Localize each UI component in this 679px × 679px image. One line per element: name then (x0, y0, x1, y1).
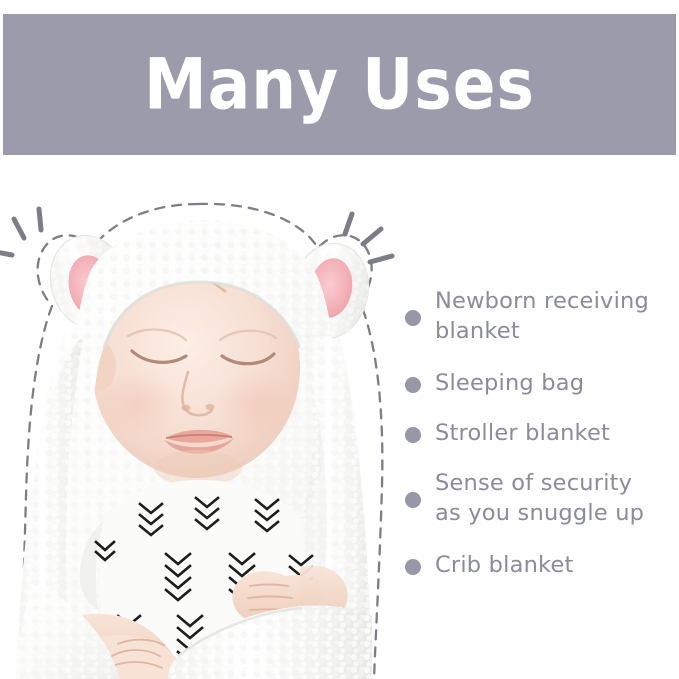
product-feature-card: Many Uses (0, 0, 679, 679)
list-item: Stroller blanket (405, 418, 679, 448)
bullet-icon (405, 427, 421, 443)
page-title: Many Uses (144, 49, 535, 120)
bullet-icon (405, 492, 421, 508)
list-item-label: Sleeping bag (435, 368, 584, 398)
bullet-icon (405, 559, 421, 575)
sparkle-left (0, 209, 41, 255)
header-banner: Many Uses (3, 14, 676, 155)
list-item: Crib blanket (405, 550, 679, 580)
list-item: Sense of security as you snuggle up (405, 468, 679, 528)
product-photo (0, 186, 400, 679)
list-item-label: Crib blanket (435, 550, 574, 580)
list-item: Sleeping bag (405, 368, 679, 398)
list-item: Newborn receiving blanket (405, 286, 679, 346)
list-item-label: Stroller blanket (435, 418, 610, 448)
list-item-label: Sense of security as you snuggle up (435, 468, 644, 528)
bullet-icon (405, 377, 421, 393)
bullet-icon (405, 310, 421, 326)
baby-blanket-illustration (0, 186, 400, 679)
uses-list: Newborn receiving blanket Sleeping bag S… (405, 286, 679, 600)
list-item-label: Newborn receiving blanket (435, 286, 649, 346)
